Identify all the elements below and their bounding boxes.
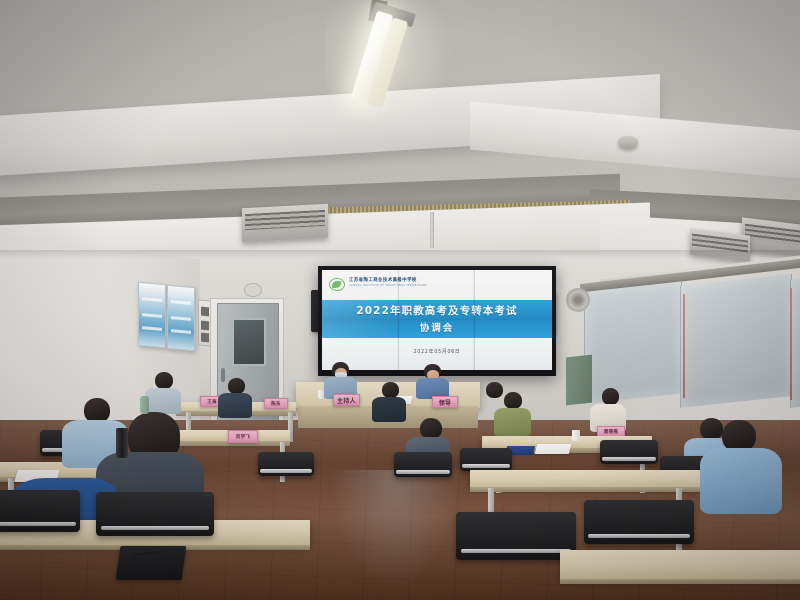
blind-pull-cord-1[interactable] <box>683 294 685 398</box>
slide-date: 2022年05月06日 <box>322 348 552 355</box>
meeting-room-photo: 江苏省陶工商业技术高级中学校 JIANGSU INSTITUTE OF VOCA… <box>0 0 800 600</box>
window-blind-1[interactable] <box>584 281 682 404</box>
placard-front-left: 主持人 <box>333 394 360 406</box>
wall-ceiling-shadow <box>0 250 800 258</box>
paper-cup <box>572 430 580 441</box>
chair-mid-3[interactable] <box>460 448 512 471</box>
ac-cassette-left <box>242 204 328 243</box>
placard-front-right: 领导 <box>432 396 458 408</box>
school-name-en: JIANGSU INSTITUTE OF VOCATIONAL TECHNOLO… <box>349 284 427 287</box>
ceiling-pipe <box>430 212 434 248</box>
chair-right-1[interactable] <box>600 440 658 464</box>
chair-fore-mid[interactable] <box>96 492 214 536</box>
papers-mid-right <box>535 444 571 454</box>
slide-title-line2: 协调会 <box>322 320 552 334</box>
placard-row1-left: 刘学飞 <box>228 430 258 443</box>
screen-content: 江苏省陶工商业技术高级中学校 JIANGSU INSTITUTE OF VOCA… <box>322 270 552 370</box>
chair-fore-right[interactable] <box>456 512 576 560</box>
led-video-wall: 江苏省陶工商业技术高级中学校 JIANGSU INSTITUTE OF VOCA… <box>318 266 556 376</box>
chair-fore-left[interactable] <box>0 490 80 532</box>
chair-mid-2[interactable] <box>394 452 452 477</box>
slide-title-line1: 2022年职教高考及专转本考试 <box>322 303 552 318</box>
thermos <box>116 428 128 458</box>
door-sign-icon <box>244 283 262 297</box>
wall-poster-1 <box>138 282 166 348</box>
school-logo-icon <box>329 278 345 291</box>
school-name-cn: 江苏省陶工商业技术高级中学校 <box>349 277 417 283</box>
chair-fore-far-right[interactable] <box>584 500 694 544</box>
wall-poster-2 <box>167 285 195 351</box>
green-storage-cabinet <box>566 355 592 406</box>
smoke-detector-icon <box>618 136 638 149</box>
window-blind-2[interactable] <box>680 274 792 408</box>
placard-row1-right: 陈东 <box>264 398 288 409</box>
door-handle[interactable] <box>221 368 225 382</box>
presenter-cup <box>318 390 324 399</box>
desk-fore-right <box>470 470 700 488</box>
door-window <box>232 318 266 366</box>
wall-fan-icon <box>566 288 590 312</box>
chair-mid-1[interactable] <box>258 452 314 476</box>
water-bottle <box>140 396 149 414</box>
blind-pull-cord-2[interactable] <box>790 288 792 400</box>
desk-foreground-right <box>560 550 800 580</box>
